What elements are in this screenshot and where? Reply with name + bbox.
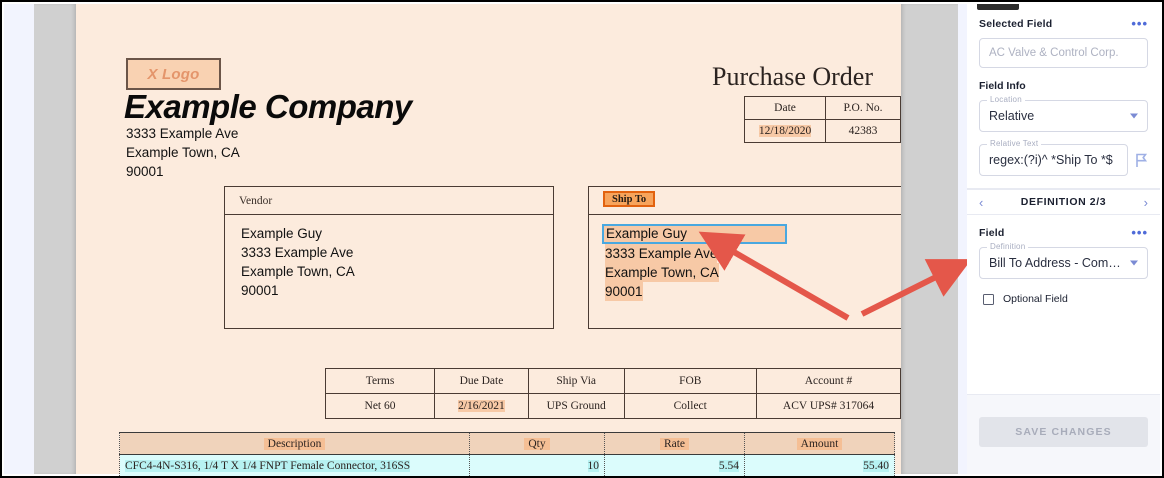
definition-select[interactable]: Definition Bill To Address - Com…	[979, 247, 1148, 279]
panel-footer: SAVE CHANGES	[967, 394, 1160, 474]
field-menu-icon[interactable]: •••	[1131, 229, 1148, 237]
table-row[interactable]: CFC4-4N-S316, 1/4 T X 1/4 FNPT Female Co…	[120, 455, 895, 477]
company-address: 3333 Example Ave Example Town, CA 90001	[126, 124, 240, 181]
cell-highlight: 55.40	[863, 460, 889, 472]
column-header-rate: Rate	[605, 433, 745, 455]
line-items-table: Description Qty Rate Amount CFC4-4N-S316…	[119, 432, 895, 477]
ship-to-anchor-tag[interactable]: Ship To	[603, 191, 655, 207]
company-name: Example Company	[124, 88, 412, 126]
cell-highlight: CFC4-4N-S316, 1/4 T X 1/4 FNPT Female Co…	[125, 460, 410, 472]
relative-text-value: regex:(?i)^ *Ship To *$	[989, 153, 1113, 167]
column-header-account: Account #	[756, 369, 900, 394]
field-info-title: Field Info	[979, 80, 1148, 92]
column-header-fob: FOB	[624, 369, 756, 394]
company-address-line: 3333 Example Ave	[126, 124, 240, 143]
column-header-po-no: P.O. No.	[826, 97, 901, 120]
location-select[interactable]: Location Relative	[979, 100, 1148, 132]
vendor-line: Example Guy	[241, 224, 553, 243]
chevron-down-icon[interactable]	[1130, 114, 1138, 119]
relative-text-legend: Relative Text	[987, 139, 1041, 148]
selected-field-title: Selected Field	[979, 18, 1052, 30]
table-row: Description Qty Rate Amount	[120, 433, 895, 455]
cell-qty[interactable]: 10	[470, 455, 605, 477]
company-address-line: 90001	[126, 162, 240, 181]
chevron-down-icon[interactable]	[1130, 261, 1138, 266]
definition-counter-label: DEFINITION 2/3	[1021, 196, 1106, 208]
definition-nav: ‹ DEFINITION 2/3 ›	[967, 189, 1160, 215]
location-legend: Location	[987, 95, 1025, 104]
highlighted-value: Example Town, CA	[605, 263, 719, 282]
app-window: X Logo Example Company 3333 Example Ave …	[0, 0, 1164, 478]
cell-highlight: 10	[588, 460, 600, 472]
field-title: Field	[979, 227, 1005, 239]
highlighted-value: 12/18/2020	[759, 125, 811, 137]
cell-rate[interactable]: 5.54	[605, 455, 745, 477]
date-po-table: Date P.O. No. 12/18/2020 42383	[744, 96, 901, 143]
vendor-box-body: Example Guy 3333 Example Ave Example Tow…	[225, 215, 553, 300]
field-header: Field •••	[979, 227, 1148, 239]
relative-text-row: Relative Text regex:(?i)^ *Ship To *$	[979, 144, 1148, 176]
table-row: Net 60 2/16/2021 UPS Ground Collect ACV …	[326, 394, 901, 419]
cell-fob[interactable]: Collect	[624, 394, 756, 419]
ship-to-box-body: Example Guy 3333 Example Ave Example Tow…	[589, 215, 929, 301]
cell-amount[interactable]: 55.40	[745, 455, 895, 477]
relative-text-input[interactable]: Relative Text regex:(?i)^ *Ship To *$	[979, 144, 1128, 176]
left-canvas-gutter	[34, 4, 76, 474]
column-header-ship-via: Ship Via	[528, 369, 624, 394]
highlighted-value: 3333 Example Ave	[605, 244, 717, 263]
field-inspector-panel: Selected Field ••• Field Info Location R…	[967, 4, 1160, 474]
highlighted-value: 90001	[605, 282, 643, 301]
panel-handle-nub[interactable]	[977, 4, 1019, 10]
column-header-due-date: Due Date	[435, 369, 529, 394]
table-row: 12/18/2020 42383	[745, 120, 901, 143]
selected-field-card: Selected Field ••• Field Info Location R…	[967, 4, 1160, 189]
table-row: Terms Due Date Ship Via FOB Account #	[326, 369, 901, 394]
ship-to-line[interactable]: 90001	[605, 282, 929, 301]
definition-value: Bill To Address - Com…	[989, 256, 1121, 270]
ship-to-selected-line[interactable]: Example Guy	[605, 224, 929, 244]
optional-field-row[interactable]: Optional Field	[979, 293, 1148, 305]
cell-description[interactable]: CFC4-4N-S316, 1/4 T X 1/4 FNPT Female Co…	[120, 455, 470, 477]
column-header-terms: Terms	[326, 369, 435, 394]
selected-field-menu-icon[interactable]: •••	[1131, 20, 1148, 28]
optional-field-checkbox[interactable]	[983, 294, 994, 305]
column-header-amount: Amount	[745, 433, 895, 455]
vendor-line: 3333 Example Ave	[241, 243, 553, 262]
vendor-label: Vendor	[239, 195, 272, 207]
company-address-line: Example Town, CA	[126, 143, 240, 162]
vendor-box-header: Vendor	[225, 187, 553, 215]
flag-icon[interactable]	[1134, 153, 1148, 173]
ship-to-line[interactable]: Example Town, CA	[605, 263, 929, 282]
cell-ship-via[interactable]: UPS Ground	[528, 394, 624, 419]
cell-date[interactable]: 12/18/2020	[745, 120, 826, 143]
save-changes-button[interactable]: SAVE CHANGES	[979, 417, 1148, 447]
document-page[interactable]: X Logo Example Company 3333 Example Ave …	[76, 4, 901, 474]
header-highlight: Amount	[797, 438, 843, 450]
next-definition-button[interactable]: ›	[1144, 195, 1148, 210]
vendor-line: 90001	[241, 281, 553, 300]
header-highlight: Qty	[524, 438, 549, 450]
location-value: Relative	[989, 109, 1034, 123]
terms-table: Terms Due Date Ship Via FOB Account # Ne…	[325, 368, 901, 419]
column-header-qty: Qty	[470, 433, 605, 455]
logo-text: X Logo	[147, 66, 199, 83]
vendor-line: Example Town, CA	[241, 262, 553, 281]
cell-terms[interactable]: Net 60	[326, 394, 435, 419]
panel-body: Selected Field ••• Field Info Location R…	[967, 4, 1160, 400]
optional-field-label: Optional Field	[1003, 293, 1068, 305]
cell-account[interactable]: ACV UPS# 317064	[756, 394, 900, 419]
left-rail	[4, 4, 34, 474]
cell-highlight: 5.54	[719, 460, 739, 472]
field-card: Field ••• Definition Bill To Address - C…	[967, 215, 1160, 317]
definition-legend: Definition	[987, 242, 1028, 251]
ship-to-box: Ship To Example Guy 3333 Example Ave Exa…	[588, 186, 930, 329]
ship-to-line[interactable]: 3333 Example Ave	[605, 244, 929, 263]
column-header-date: Date	[745, 97, 826, 120]
cell-due-date[interactable]: 2/16/2021	[435, 394, 529, 419]
vendor-box: Vendor Example Guy 3333 Example Ave Exam…	[224, 186, 554, 329]
panel-gap	[958, 4, 967, 474]
header-highlight: Description	[264, 438, 326, 450]
prev-definition-button[interactable]: ‹	[979, 195, 983, 210]
ship-to-box-header: Ship To	[589, 187, 929, 215]
table-row: Date P.O. No.	[745, 97, 901, 120]
selected-field-input[interactable]	[979, 38, 1148, 68]
header-highlight: Rate	[660, 438, 689, 450]
highlighted-value: 2/16/2021	[458, 400, 505, 412]
column-header-description: Description	[120, 433, 470, 455]
right-canvas-gutter	[901, 4, 965, 474]
selected-field-highlight[interactable]: Example Guy	[602, 224, 787, 244]
selected-field-header: Selected Field •••	[979, 18, 1148, 30]
purchase-order-title: Purchase Order	[712, 62, 873, 92]
cell-po-no[interactable]: 42383	[826, 120, 901, 143]
logo-placeholder: X Logo	[126, 58, 221, 90]
